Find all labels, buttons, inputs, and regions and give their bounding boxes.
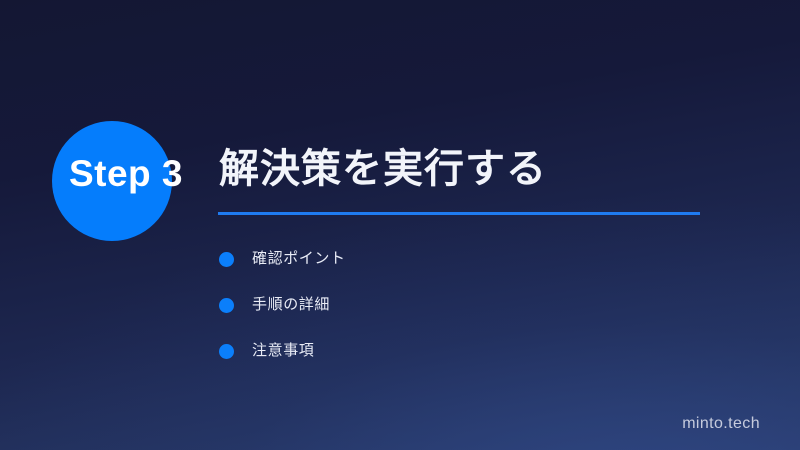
slide-title: 解決策を実行する [219,143,547,195]
list-item: 注意事項 [219,328,689,374]
bullet-list: 確認ポイント 手順の詳細 注意事項 [219,236,689,374]
title-divider [218,212,700,215]
bullet-label: 確認ポイント [252,249,346,269]
bullet-dot-icon [219,344,234,359]
list-item: 手順の詳細 [219,282,689,328]
step-badge-label: Step 3 [46,152,206,196]
bullet-label: 注意事項 [252,341,314,361]
list-item: 確認ポイント [219,236,689,282]
bullet-dot-icon [219,252,234,267]
slide-content: Step 3 解決策を実行する 確認ポイント 手順の詳細 注意事項 minto.… [0,0,800,450]
slide-canvas: Step 3 解決策を実行する 確認ポイント 手順の詳細 注意事項 minto.… [0,0,800,450]
footer-brand: minto.tech [682,414,760,434]
bullet-label: 手順の詳細 [252,295,330,315]
bullet-dot-icon [219,298,234,313]
